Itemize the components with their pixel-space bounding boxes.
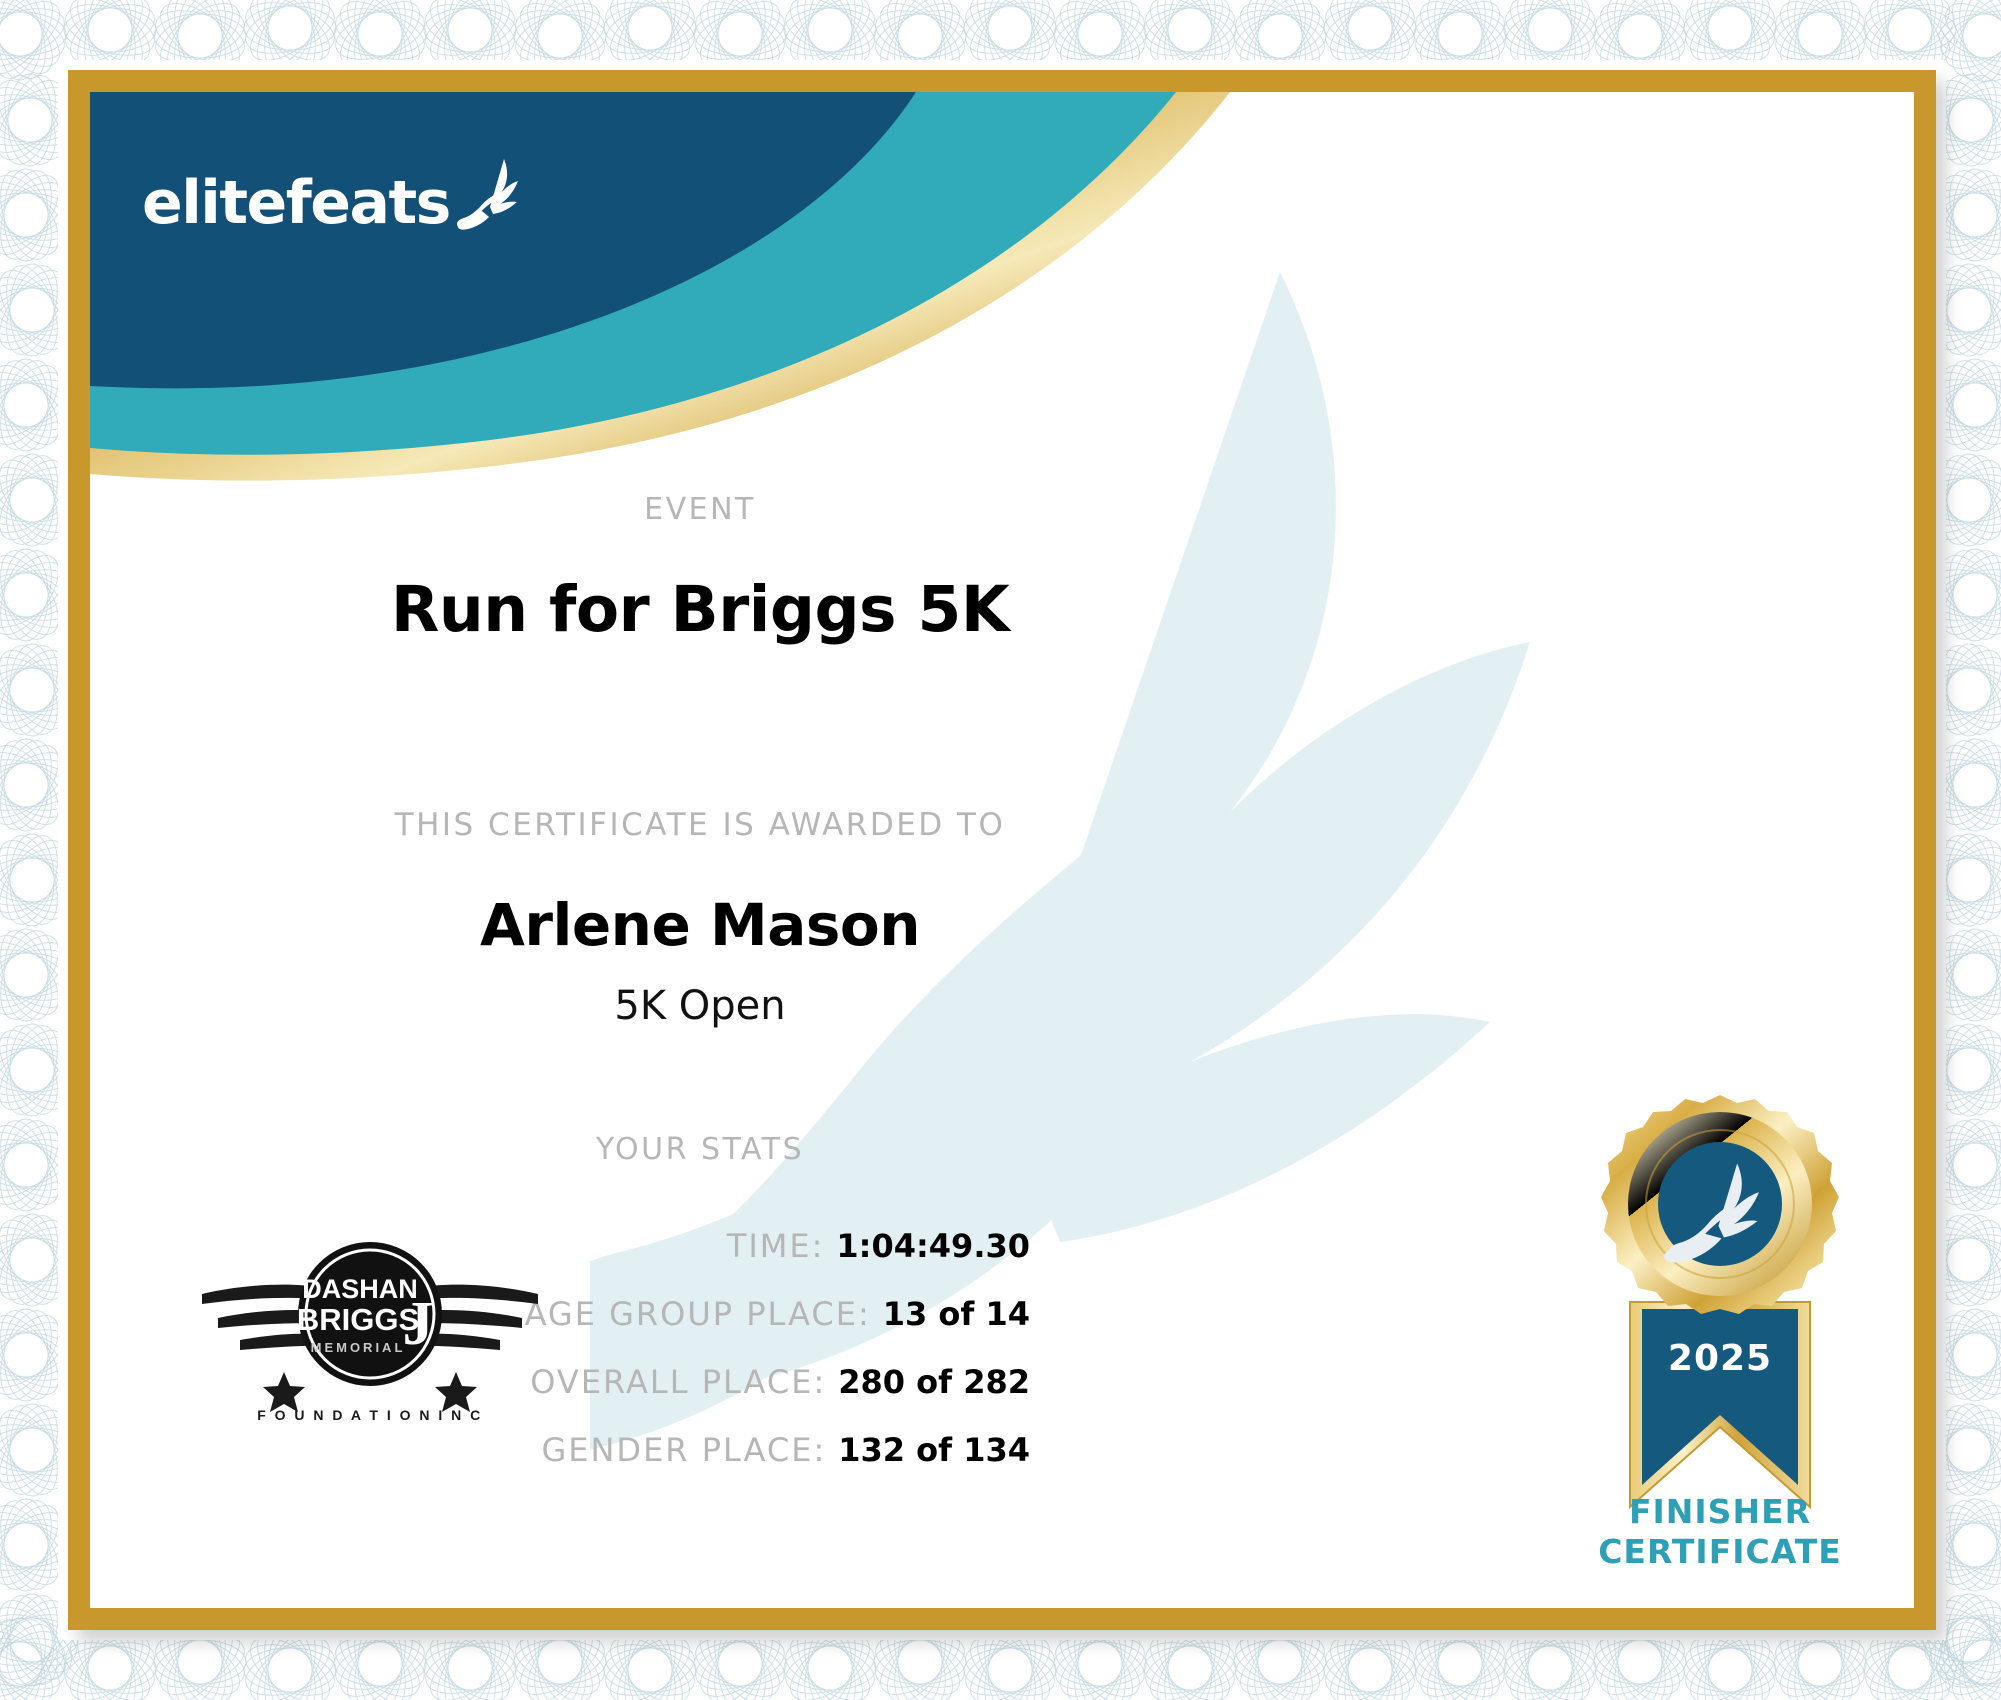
stat-value: 132 of 134 [838,1431,1030,1469]
medal-caption: FINISHER CERTIFICATE [1530,1492,1910,1573]
foundation-line3: MEMORIAL [311,1340,406,1355]
stat-row-gender-place: GENDER PLACE: 132 of 134 [90,1431,1310,1469]
finisher-medal-seal: 2025 [1570,1087,1870,1557]
medal-caption-line2: CERTIFICATE [1530,1532,1910,1572]
awarded-to-label: THIS CERTIFICATE IS AWARDED TO [90,807,1310,843]
foundation-line2: BRIGGS [297,1302,419,1337]
medal-caption-line1: FINISHER [1530,1492,1910,1532]
stat-value: 1:04:49.30 [836,1227,1030,1265]
elitefeats-logo: elitefeats [142,157,526,233]
winged-foot-icon [454,157,526,233]
dashan-briggs-foundation-logo: DASHAN BRIGGS MEMORIAL J F O U N D A T I… [200,1232,540,1432]
certificate-gold-border: elitefeats [68,70,1936,1630]
stat-key: GENDER PLACE: [541,1431,826,1469]
event-name: Run for Briggs 5K [90,573,1310,646]
event-section: EVENT Run for Briggs 5K [90,492,1310,646]
stat-key: OVERALL PLACE: [530,1363,826,1401]
stat-key: TIME: [727,1227,825,1265]
medal-year: 2025 [1668,1338,1772,1379]
stat-key: AGE GROUP PLACE: [525,1295,871,1333]
certificate-page: elitefeats [0,0,2001,1700]
stat-value: 280 of 282 [838,1363,1030,1401]
foundation-line1: DASHAN [302,1274,418,1304]
awarded-section: THIS CERTIFICATE IS AWARDED TO Arlene Ma… [90,807,1310,1029]
foundation-footer: F O U N D A T I O N I N C [257,1407,483,1423]
recipient-division: 5K Open [90,983,1310,1029]
event-label: EVENT [90,492,1310,527]
elitefeats-wordmark: elitefeats [142,173,450,233]
foundation-monogram: J [403,1290,434,1358]
recipient-name: Arlene Mason [90,891,1310,959]
stat-value: 13 of 14 [883,1295,1030,1333]
certificate-card: elitefeats [90,92,1914,1608]
stats-label: YOUR STATS [90,1132,1310,1167]
